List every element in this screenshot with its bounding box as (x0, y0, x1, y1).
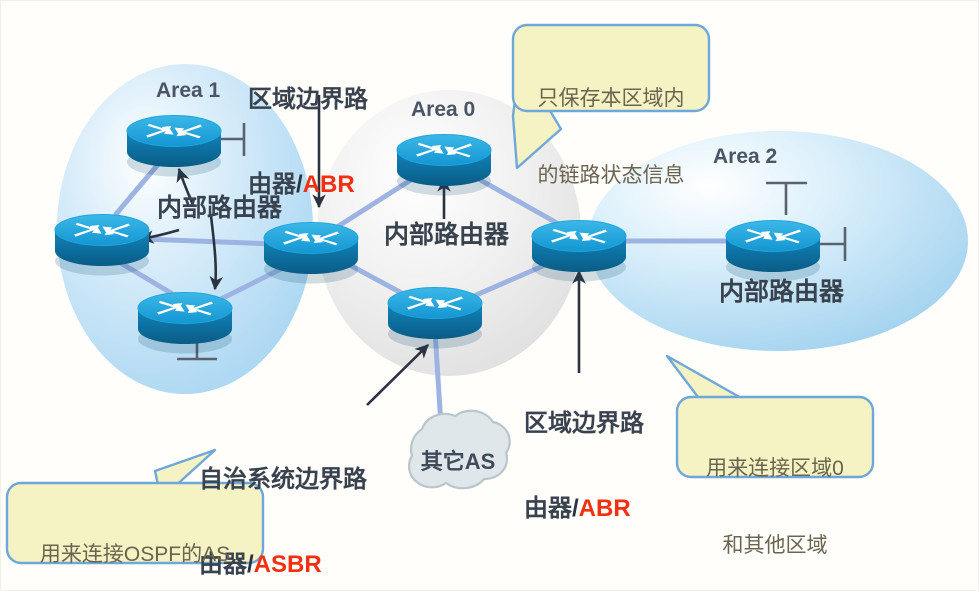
callout-link-state-line1: 只保存本区域内 (513, 86, 709, 112)
abr-top-slash: / (296, 171, 303, 198)
router-area1-left[interactable] (55, 215, 149, 276)
router-area1-bottom[interactable] (138, 293, 232, 354)
internal-router-label-area0: 内部路由器 (384, 221, 509, 251)
callout-link-state-line2: 的链路状态信息 (513, 163, 709, 189)
callout-connect-ospf-text: 用来连接OSPF的AS 与外部其他的路由 (7, 491, 263, 591)
other-as-label: 其它AS (414, 444, 502, 476)
abr-right-slash: / (572, 495, 579, 522)
abr-right-label: 区域边界路 由器/ABR (524, 353, 644, 580)
internal-router-label-area2: 内部路由器 (719, 278, 844, 308)
callout-connect-area0-line1: 用来连接区域0 (677, 456, 873, 482)
abr-top-label: 区域边界路 由器/ABR (248, 29, 368, 256)
area2-title: Area 2 (713, 145, 777, 170)
router-area2[interactable] (726, 221, 820, 282)
abr-top-line1: 区域边界路 (248, 86, 368, 114)
abr-right-line2: 由器/ABR (524, 495, 644, 523)
callout-connect-area0-line2: 和其他区域 (677, 533, 873, 559)
area1-title: Area 1 (156, 79, 220, 104)
router-area1-top[interactable] (127, 116, 221, 177)
abr-right-prefix: 由器 (524, 495, 572, 522)
abr-top-prefix: 由器 (248, 171, 296, 198)
router-area0-bottom[interactable] (388, 288, 482, 349)
asbr-acronym: ASBR (254, 551, 322, 578)
asbr-line1: 自治系统边界路 (199, 466, 367, 494)
abr-top-line2: 由器/ABR (248, 171, 368, 199)
abr-top-acronym: ABR (303, 171, 355, 198)
callout-link-state-text: 只保存本区域内 的链路状态信息 (513, 35, 709, 240)
callout-connect-ospf-line1: 用来连接OSPF的AS (7, 542, 263, 568)
area0-title: Area 0 (411, 98, 475, 123)
diagram-canvas: Area 1 Area 0 Area 2 内部路由器 内部路由器 内部路由器 区… (0, 0, 979, 591)
abr-right-line1: 区域边界路 (524, 410, 644, 438)
router-area0-top[interactable] (397, 135, 491, 196)
abr-right-acronym: ABR (579, 495, 631, 522)
callout-connect-area0-text: 用来连接区域0 和其他区域 (677, 405, 873, 591)
